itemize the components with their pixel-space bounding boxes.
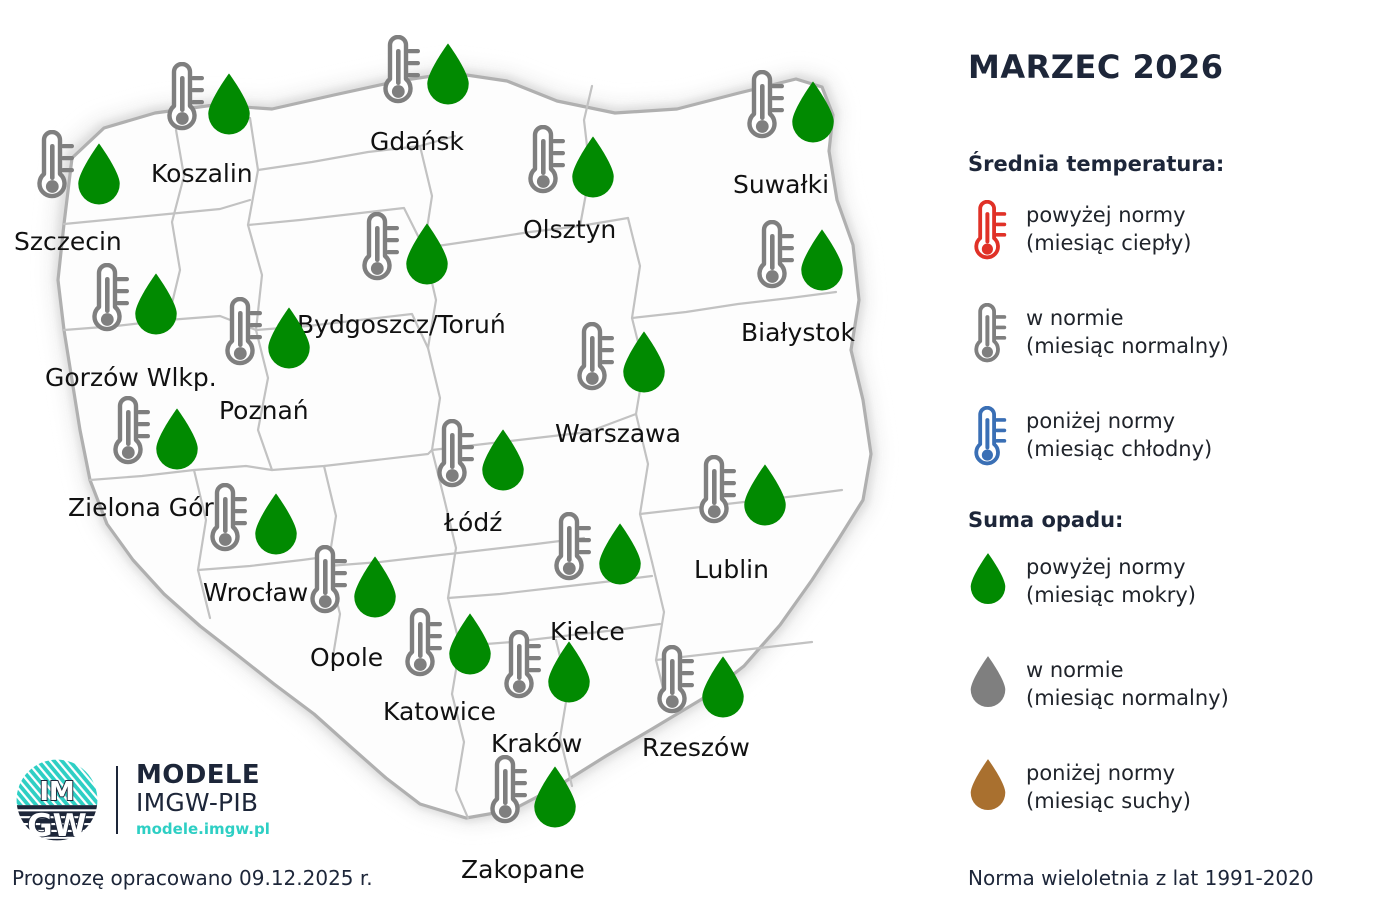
water-drop-icon [968, 758, 1020, 813]
temperature-legend-label: w normie(miesiąc normalny) [1020, 303, 1229, 360]
temperature-marker-zakopane [483, 755, 529, 835]
precipitation-legend-label: powyżej normy(miesiąc mokry) [1020, 552, 1196, 609]
thermometer-icon [650, 645, 696, 721]
thermometer-icon [203, 483, 249, 559]
thermometer-icon [30, 130, 76, 206]
legend-label-line2: (miesiąc normalny) [1026, 685, 1229, 713]
precipitation-marker-wroc-aw [252, 492, 300, 562]
thermometer-icon [570, 322, 616, 398]
legend-label-line1: poniżej normy [1026, 408, 1212, 436]
city-label-opole: Opole [310, 643, 383, 672]
temperature-marker-olsztyn [521, 125, 567, 205]
temperature-marker-bia-ystok [750, 220, 796, 300]
precipitation-marker-lublin [741, 463, 789, 533]
precipitation-marker--d- [479, 428, 527, 498]
water-drop-icon [968, 758, 1008, 813]
water-drop-icon [403, 222, 451, 288]
temperature-marker-suwa-ki [740, 70, 786, 150]
temperature-marker-rzesz-w [650, 645, 696, 725]
city-label-bia-ystok: Białystok [741, 318, 855, 347]
normal-period-note: Norma wieloletnia z lat 1991-2020 [968, 866, 1314, 890]
thermometer-icon [521, 125, 567, 201]
temperature-legend-heading: Średnia temperatura: [968, 152, 1224, 176]
precipitation-legend-item: w normie(miesiąc normalny) [968, 655, 1229, 712]
city-label-lublin: Lublin [694, 555, 769, 584]
temperature-legend-item: powyżej normy(miesiąc ciepły) [968, 200, 1192, 266]
thermometer-icon [106, 396, 152, 472]
city-label-bydgoszcz-toru-: Bydgoszcz/Toruń [297, 310, 506, 339]
water-drop-icon [265, 306, 313, 372]
legend-label-line1: powyżej normy [1026, 554, 1196, 582]
temperature-legend-label: poniżej normy(miesiąc chłodny) [1020, 406, 1212, 463]
logo-divider [116, 766, 118, 834]
city-label-zakopane: Zakopane [461, 855, 585, 884]
precipitation-marker-warszawa [620, 330, 668, 400]
thermometer-icon [692, 455, 738, 531]
thermometer-icon [547, 512, 593, 588]
city-label-pozna-: Poznań [219, 396, 309, 425]
legend-label-line2: (miesiąc chłodny) [1026, 436, 1212, 464]
city-label-gda-sk: Gdańsk [370, 127, 464, 156]
thermometer-icon [160, 62, 206, 138]
city-label-wroc-aw: Wrocław [203, 578, 308, 607]
thermometer-icon [968, 303, 1008, 369]
legend-label-line2: (miesiąc mokry) [1026, 582, 1196, 610]
thermometer-icon [968, 303, 1020, 369]
temperature-marker-gda-sk [376, 35, 422, 115]
water-drop-icon [252, 492, 300, 558]
imgw-logo: IM GW MODELE IMGW-PIB modele.imgw.pl [14, 757, 270, 843]
water-drop-icon [699, 655, 747, 721]
city-label-suwa-ki: Suwałki [733, 170, 829, 199]
temperature-marker-lublin [692, 455, 738, 535]
temperature-marker-gorz-w-wlkp- [85, 263, 131, 343]
city-label-koszalin: Koszalin [151, 159, 253, 188]
precipitation-marker-koszalin [205, 72, 253, 142]
thermometer-icon [968, 200, 1020, 266]
temperature-marker-szczecin [30, 130, 76, 210]
water-drop-icon [968, 655, 1020, 710]
water-drop-icon [75, 142, 123, 208]
precipitation-marker-zakopane [531, 765, 579, 835]
water-drop-icon [446, 612, 494, 678]
legend-label-line2: (miesiąc ciepły) [1026, 230, 1192, 258]
imgw-logo-mark: IM GW [14, 757, 100, 843]
thermometer-icon [85, 263, 131, 339]
legend-label-line2: (miesiąc suchy) [1026, 788, 1191, 816]
temperature-marker-bydgoszcz-toru- [355, 212, 401, 292]
thermometer-icon [430, 419, 476, 495]
precipitation-marker-krak-w [545, 640, 593, 710]
legend-label-line1: w normie [1026, 657, 1229, 685]
water-drop-icon [132, 272, 180, 338]
precipitation-marker-katowice [446, 612, 494, 682]
water-drop-icon [596, 522, 644, 588]
water-drop-icon [798, 228, 846, 294]
precipitation-marker-bydgoszcz-toru- [403, 222, 451, 292]
logo-line-website[interactable]: modele.imgw.pl [136, 820, 270, 840]
city-label-katowice: Katowice [383, 697, 496, 726]
logo-line-modele: MODELE [136, 761, 270, 789]
thermometer-icon [483, 755, 529, 831]
water-drop-icon [153, 407, 201, 473]
city-label-szczecin: Szczecin [14, 227, 122, 256]
city-label-rzesz-w: Rzeszów [642, 733, 750, 762]
precipitation-marker-zielona-g-ra [153, 407, 201, 477]
temperature-legend-item: poniżej normy(miesiąc chłodny) [968, 406, 1212, 472]
thermometer-icon [303, 545, 349, 621]
precipitation-marker-rzesz-w [699, 655, 747, 725]
precipitation-legend-heading: Suma opadu: [968, 508, 1123, 532]
precipitation-marker-gorz-w-wlkp- [132, 272, 180, 342]
logo-line-imgw-pib: IMGW-PIB [136, 789, 270, 817]
water-drop-icon [424, 42, 472, 108]
city-label-warszawa: Warszawa [555, 419, 681, 448]
temperature-marker-opole [303, 545, 349, 625]
thermometer-icon [218, 297, 264, 373]
precipitation-legend-item: powyżej normy(miesiąc mokry) [968, 552, 1196, 609]
thermometer-icon [398, 608, 444, 684]
precipitation-legend-label: poniżej normy(miesiąc suchy) [1020, 758, 1191, 815]
water-drop-icon [968, 655, 1008, 710]
water-drop-icon [968, 552, 1020, 607]
temperature-marker-wroc-aw [203, 483, 249, 563]
imgw-logo-text-bottom: GW [27, 808, 87, 843]
legend-label-line1: powyżej normy [1026, 202, 1192, 230]
water-drop-icon [968, 552, 1008, 607]
water-drop-icon [789, 80, 837, 146]
city-label-olsztyn: Olsztyn [523, 215, 616, 244]
forecast-date-note: Prognozę opracowano 09.12.2025 r. [12, 866, 373, 890]
water-drop-icon [205, 72, 253, 138]
precipitation-marker-pozna- [265, 306, 313, 376]
city-label-krak-w: Kraków [491, 729, 582, 758]
precipitation-marker-gda-sk [424, 42, 472, 112]
thermometer-icon [376, 35, 422, 111]
temperature-marker-warszawa [570, 322, 616, 402]
water-drop-icon [479, 428, 527, 494]
imgw-logo-text-top: IM [39, 777, 74, 807]
thermometer-icon [740, 70, 786, 146]
temperature-marker-krak-w [497, 630, 543, 710]
temperature-marker-katowice [398, 608, 444, 688]
city-label-gorz-w-wlkp-: Gorzów Wlkp. [45, 363, 217, 392]
precipitation-legend-item: poniżej normy(miesiąc suchy) [968, 758, 1191, 815]
temperature-marker-pozna- [218, 297, 264, 377]
legend-label-line1: w normie [1026, 305, 1229, 333]
legend-label-line1: poniżej normy [1026, 760, 1191, 788]
legend-panel: MARZEC 2026 Średnia temperatura: powyżej… [940, 0, 1400, 900]
page-title: MARZEC 2026 [968, 48, 1224, 86]
temperature-legend-item: w normie(miesiąc normalny) [968, 303, 1229, 369]
water-drop-icon [569, 135, 617, 201]
precipitation-marker-szczecin [75, 142, 123, 212]
precipitation-marker-bia-ystok [798, 228, 846, 298]
thermometer-icon [968, 406, 1008, 472]
thermometer-icon [968, 200, 1008, 266]
thermometer-icon [750, 220, 796, 296]
precipitation-marker-suwa-ki [789, 80, 837, 150]
temperature-marker--d- [430, 419, 476, 499]
precipitation-marker-kielce [596, 522, 644, 592]
temperature-marker-koszalin [160, 62, 206, 142]
water-drop-icon [351, 555, 399, 621]
precipitation-marker-opole [351, 555, 399, 625]
water-drop-icon [531, 765, 579, 831]
temperature-legend-label: powyżej normy(miesiąc ciepły) [1020, 200, 1192, 257]
precipitation-marker-olsztyn [569, 135, 617, 205]
city-label--d-: Łódź [444, 508, 502, 537]
precipitation-legend-label: w normie(miesiąc normalny) [1020, 655, 1229, 712]
temperature-marker-kielce [547, 512, 593, 592]
thermometer-icon [968, 406, 1020, 472]
temperature-marker-zielona-g-ra [106, 396, 152, 476]
legend-label-line2: (miesiąc normalny) [1026, 333, 1229, 361]
thermometer-icon [355, 212, 401, 288]
thermometer-icon [497, 630, 543, 706]
water-drop-icon [620, 330, 668, 396]
water-drop-icon [545, 640, 593, 706]
water-drop-icon [741, 463, 789, 529]
